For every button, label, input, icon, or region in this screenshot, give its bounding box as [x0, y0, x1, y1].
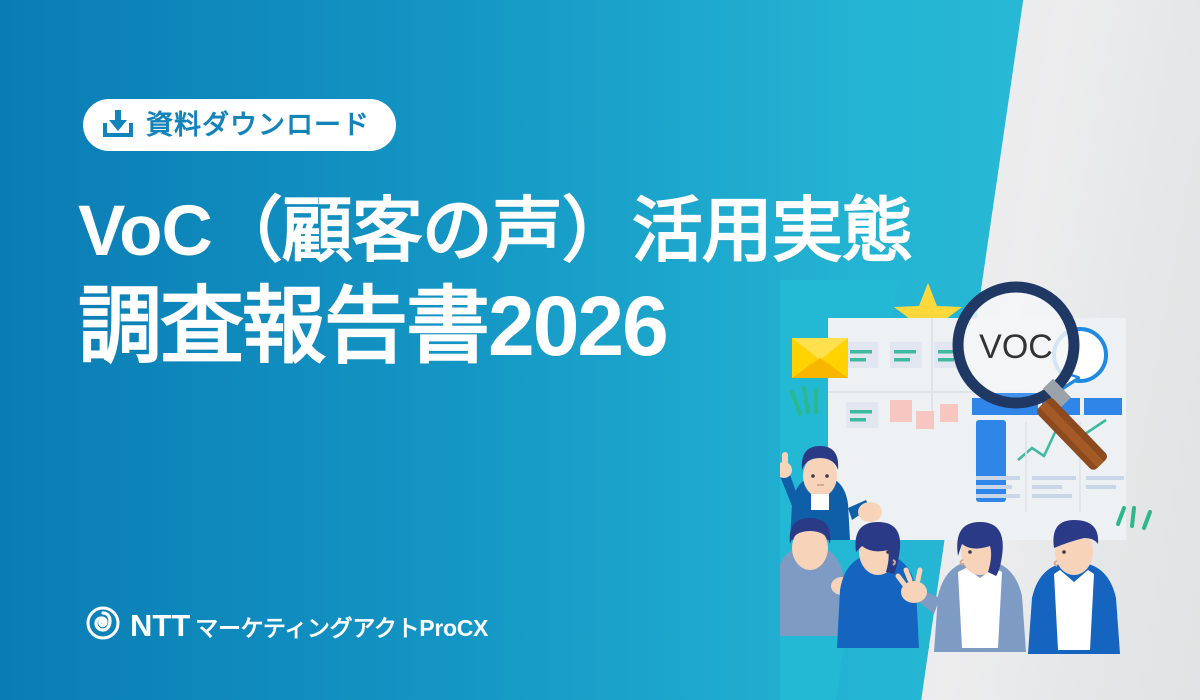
- logo-product-text: マーケティングアクトProCX: [195, 617, 488, 640]
- magnifier-voc-label: VOC: [979, 328, 1053, 366]
- bar-chart-bar: [976, 420, 1006, 502]
- download-badge-label: 資料ダウンロード: [146, 112, 370, 139]
- download-icon: [103, 109, 133, 142]
- page-title-line-1: VoC（顧客の声）活用実態: [78, 196, 912, 267]
- sticky-card-group-bottom: [846, 402, 878, 428]
- download-badge[interactable]: 資料ダウンロード: [83, 99, 396, 151]
- logo-brand-text: NTT: [130, 610, 190, 641]
- ntt-circle-mark-icon: [86, 606, 120, 645]
- page-title-line-2: 調査報告書2026: [78, 284, 912, 368]
- voc-report-banner: VOC: [0, 0, 1200, 700]
- page-title: VoC（顧客の声）活用実態 調査報告書2026: [78, 196, 912, 368]
- person-man-right: [1028, 520, 1120, 654]
- brand-logo: NTT マーケティングアクトProCX: [86, 606, 488, 645]
